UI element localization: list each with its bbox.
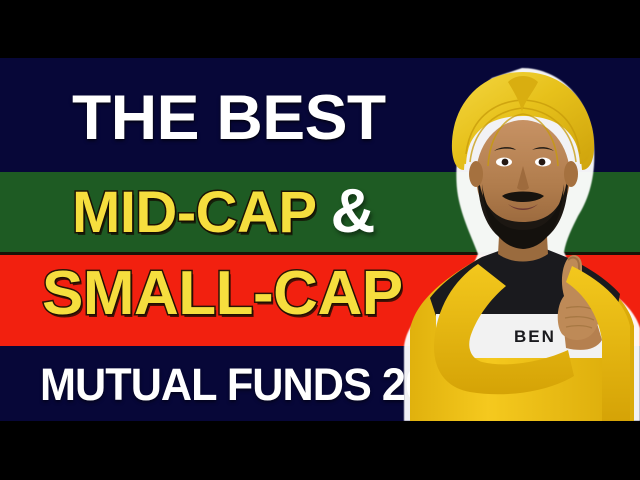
pupil-right [539,159,546,166]
thumbnail-canvas: BEN THE BEST MID-CAP& SMALL-CAP MUTUAL F… [0,0,640,480]
letterbox-top [0,0,640,58]
ear-right [564,161,578,187]
pupil-left [502,159,509,166]
letterbox-bottom [0,421,640,480]
ear-left [469,161,483,187]
presenter-photo: BEN [396,58,640,421]
shirt-logo-text: BEN [514,327,556,346]
